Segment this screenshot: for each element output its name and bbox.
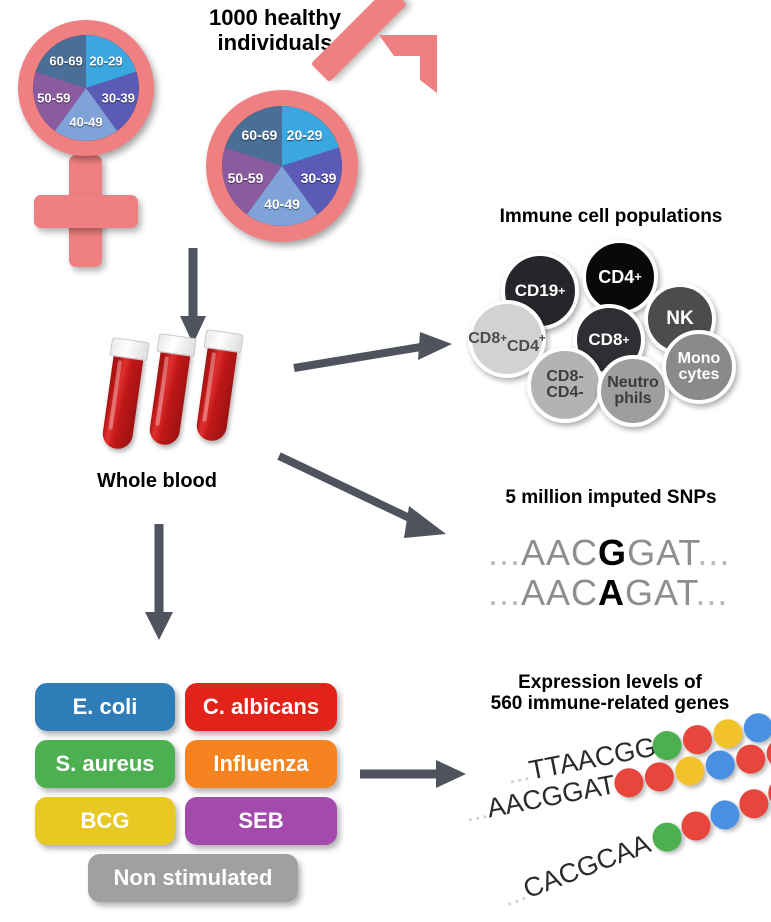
rna-bead <box>741 711 771 745</box>
immune-cell-mono-cytes: Monocytes <box>662 330 736 404</box>
rna-bead <box>648 818 685 855</box>
rna-bead <box>734 742 768 776</box>
rna-strand-panel: ...TTAACGG...AACGGAT...CACGCAA <box>0 0 771 922</box>
rna-bead <box>735 785 771 822</box>
rna-bead <box>677 807 714 844</box>
rna-sequence-text-3: ...CACGCAA <box>498 828 655 913</box>
rna-bead <box>706 796 743 833</box>
figure-canvas: 1000 healthy individuals 20-2930-3940-49… <box>0 0 771 922</box>
rna-bead <box>703 748 737 782</box>
rna-bead <box>764 736 771 770</box>
rna-bead <box>642 760 676 794</box>
immune-cell-cd8--cd4-: CD8-CD4- <box>527 347 603 423</box>
immune-cell-neutro-phils: Neutrophils <box>597 355 669 427</box>
rna-bead <box>673 754 707 788</box>
